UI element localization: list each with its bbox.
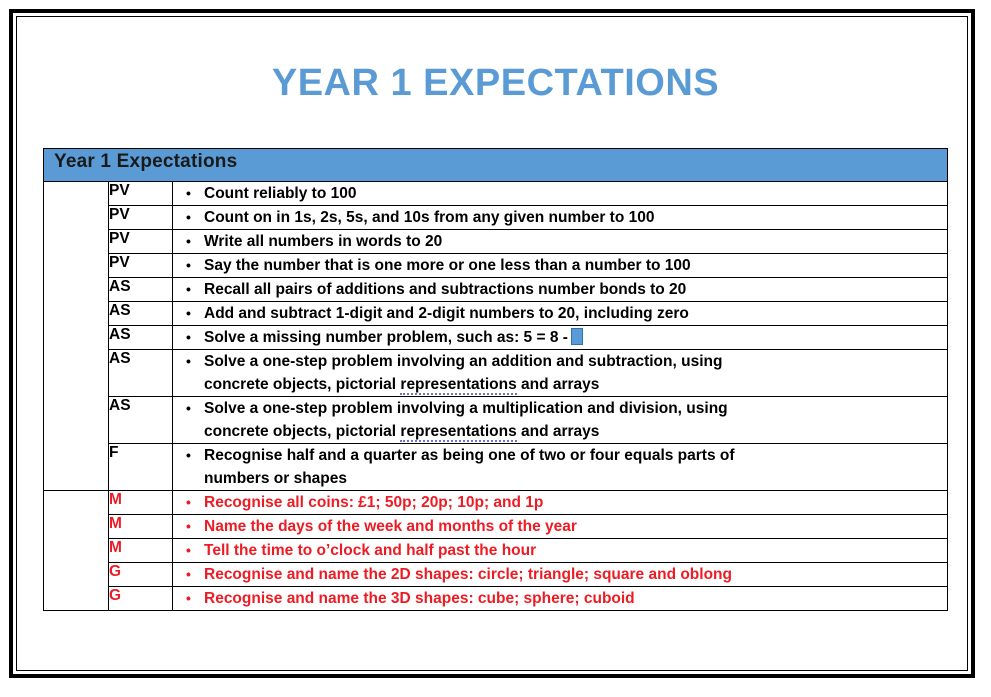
row-text-line-2-pre: concrete objects, pictorial (204, 423, 400, 440)
table-row: M•Tell the time to o’clock and half past… (44, 539, 948, 563)
row-text-line-1: Solve a one-step problem involving a mul… (204, 400, 728, 417)
row-text: Say the number that is one more or one l… (204, 254, 947, 277)
row-code: AS (109, 278, 173, 302)
table-row: AS•Solve a one-step problem involving an… (44, 350, 948, 397)
row-text-line-2: concrete objects, pictorial representati… (204, 420, 947, 443)
row-code: PV (109, 254, 173, 278)
table-row: PV•Count reliably to 100 (44, 182, 948, 206)
table-row: M•Name the days of the week and months o… (44, 515, 948, 539)
bullet-icon: • (173, 326, 204, 349)
row-text-line-1: Count on in 1s, 2s, 5s, and 10s from any… (204, 209, 654, 226)
row-text-cell: •Solve a missing number problem, such as… (173, 326, 948, 350)
row-text-line-1: Recognise half and a quarter as being on… (204, 447, 735, 464)
row-text-line-2-pre: concrete objects, pictorial (204, 376, 400, 393)
row-text-cell: •Recognise and name the 3D shapes: cube;… (173, 587, 948, 611)
row-text-line-2: concrete objects, pictorial representati… (204, 373, 947, 396)
bullet-icon: • (173, 491, 204, 514)
bullet-icon: • (173, 563, 204, 586)
row-text-line-1: Recall all pairs of additions and subtra… (204, 281, 686, 298)
row-code: G (109, 587, 173, 611)
row-text-cell: •Recall all pairs of additions and subtr… (173, 278, 948, 302)
table-row: AS•Recall all pairs of additions and sub… (44, 278, 948, 302)
row-text: Solve a one-step problem involving a mul… (204, 397, 947, 443)
row-text-cell: •Name the days of the week and months of… (173, 515, 948, 539)
row-code: AS (109, 302, 173, 326)
spellcheck-underlined-word: representations (400, 423, 516, 442)
row-code: G (109, 563, 173, 587)
row-code: AS (109, 397, 173, 444)
table-header-row: Year 1 Expectations (44, 149, 948, 182)
row-text-line-2-post: and arrays (517, 376, 600, 393)
bullet-icon: • (173, 444, 204, 467)
bullet-icon: • (173, 515, 204, 538)
row-text-line-1: Recognise and name the 2D shapes: circle… (204, 566, 732, 583)
row-text: Recognise and name the 2D shapes: circle… (204, 563, 947, 586)
row-code: PV (109, 206, 173, 230)
table-row: PV•Say the number that is one more or on… (44, 254, 948, 278)
table-row: G•Recognise and name the 3D shapes: cube… (44, 587, 948, 611)
row-text-line-1: Tell the time to o’clock and half past t… (204, 542, 536, 559)
bullet-icon: • (173, 397, 204, 420)
row-text-line-1: Solve a one-step problem involving an ad… (204, 353, 722, 370)
table-row: AS•Add and subtract 1-digit and 2-digit … (44, 302, 948, 326)
bullet-icon: • (173, 539, 204, 562)
bullet-icon: • (173, 206, 204, 229)
row-text-line-1: Say the number that is one more or one l… (204, 257, 691, 274)
row-text: Count on in 1s, 2s, 5s, and 10s from any… (204, 206, 947, 229)
row-text-cell: •Recognise all coins: £1; 50p; 20p; 10p;… (173, 491, 948, 515)
row-group-cell (44, 491, 109, 611)
row-code: F (109, 444, 173, 491)
row-text-cell: •Recognise and name the 2D shapes: circl… (173, 563, 948, 587)
row-text-cell: •Count on in 1s, 2s, 5s, and 10s from an… (173, 206, 948, 230)
row-text-line-2: numbers or shapes (204, 467, 947, 490)
row-group-cell (44, 182, 109, 491)
row-text-line-1: Count reliably to 100 (204, 185, 356, 202)
bullet-icon: • (173, 254, 204, 277)
table-row: AS•Solve a one-step problem involving a … (44, 397, 948, 444)
row-code: M (109, 539, 173, 563)
table-header-label: Year 1 Expectations (44, 149, 948, 182)
row-text-line-1: Write all numbers in words to 20 (204, 233, 442, 250)
row-text-cell: •Recognise half and a quarter as being o… (173, 444, 948, 491)
row-text-cell: •Add and subtract 1-digit and 2-digit nu… (173, 302, 948, 326)
bullet-icon: • (173, 278, 204, 301)
spellcheck-underlined-word: representations (400, 376, 516, 395)
table-row: G•Recognise and name the 2D shapes: circ… (44, 563, 948, 587)
bullet-icon: • (173, 587, 204, 610)
missing-number-placeholder-box (571, 328, 583, 345)
row-code: M (109, 491, 173, 515)
table-row: M•Recognise all coins: £1; 50p; 20p; 10p… (44, 491, 948, 515)
row-text-line-1: Name the days of the week and months of … (204, 518, 577, 535)
row-text: Solve a missing number problem, such as:… (204, 326, 947, 349)
bullet-icon: • (173, 230, 204, 253)
row-text: Name the days of the week and months of … (204, 515, 947, 538)
bullet-icon: • (173, 182, 204, 205)
row-text: Add and subtract 1-digit and 2-digit num… (204, 302, 947, 325)
row-text-cell: •Solve a one-step problem involving a mu… (173, 397, 948, 444)
row-text-line-1: Solve a missing number problem, such as:… (204, 329, 568, 346)
row-code: M (109, 515, 173, 539)
row-code: AS (109, 326, 173, 350)
row-code: AS (109, 350, 173, 397)
row-text-line-2-post: and arrays (517, 423, 600, 440)
expectations-table: Year 1 Expectations PV•Count reliably to… (43, 148, 948, 611)
row-text: Recognise all coins: £1; 50p; 20p; 10p; … (204, 491, 947, 514)
table-row: PV•Write all numbers in words to 20 (44, 230, 948, 254)
row-text-cell: •Solve a one-step problem involving an a… (173, 350, 948, 397)
row-text-line-1: Recognise and name the 3D shapes: cube; … (204, 590, 635, 607)
table-row: F•Recognise half and a quarter as being … (44, 444, 948, 491)
row-text: Count reliably to 100 (204, 182, 947, 205)
row-text-line-1: Recognise all coins: £1; 50p; 20p; 10p; … (204, 494, 543, 511)
row-text: Solve a one-step problem involving an ad… (204, 350, 947, 396)
row-text-cell: •Write all numbers in words to 20 (173, 230, 948, 254)
row-text: Recognise half and a quarter as being on… (204, 444, 947, 490)
table-body: Year 1 Expectations PV•Count reliably to… (44, 149, 948, 611)
row-text-cell: •Count reliably to 100 (173, 182, 948, 206)
row-text-line-1: Add and subtract 1-digit and 2-digit num… (204, 305, 689, 322)
row-text: Tell the time to o’clock and half past t… (204, 539, 947, 562)
table-row: PV•Count on in 1s, 2s, 5s, and 10s from … (44, 206, 948, 230)
row-text: Write all numbers in words to 20 (204, 230, 947, 253)
row-code: PV (109, 182, 173, 206)
row-text: Recognise and name the 3D shapes: cube; … (204, 587, 947, 610)
bullet-icon: • (173, 302, 204, 325)
row-text-cell: •Tell the time to o’clock and half past … (173, 539, 948, 563)
page-title: YEAR 1 EXPECTATIONS (0, 62, 991, 105)
table-row: AS•Solve a missing number problem, such … (44, 326, 948, 350)
row-text-cell: •Say the number that is one more or one … (173, 254, 948, 278)
row-code: PV (109, 230, 173, 254)
bullet-icon: • (173, 350, 204, 373)
row-text: Recall all pairs of additions and subtra… (204, 278, 947, 301)
